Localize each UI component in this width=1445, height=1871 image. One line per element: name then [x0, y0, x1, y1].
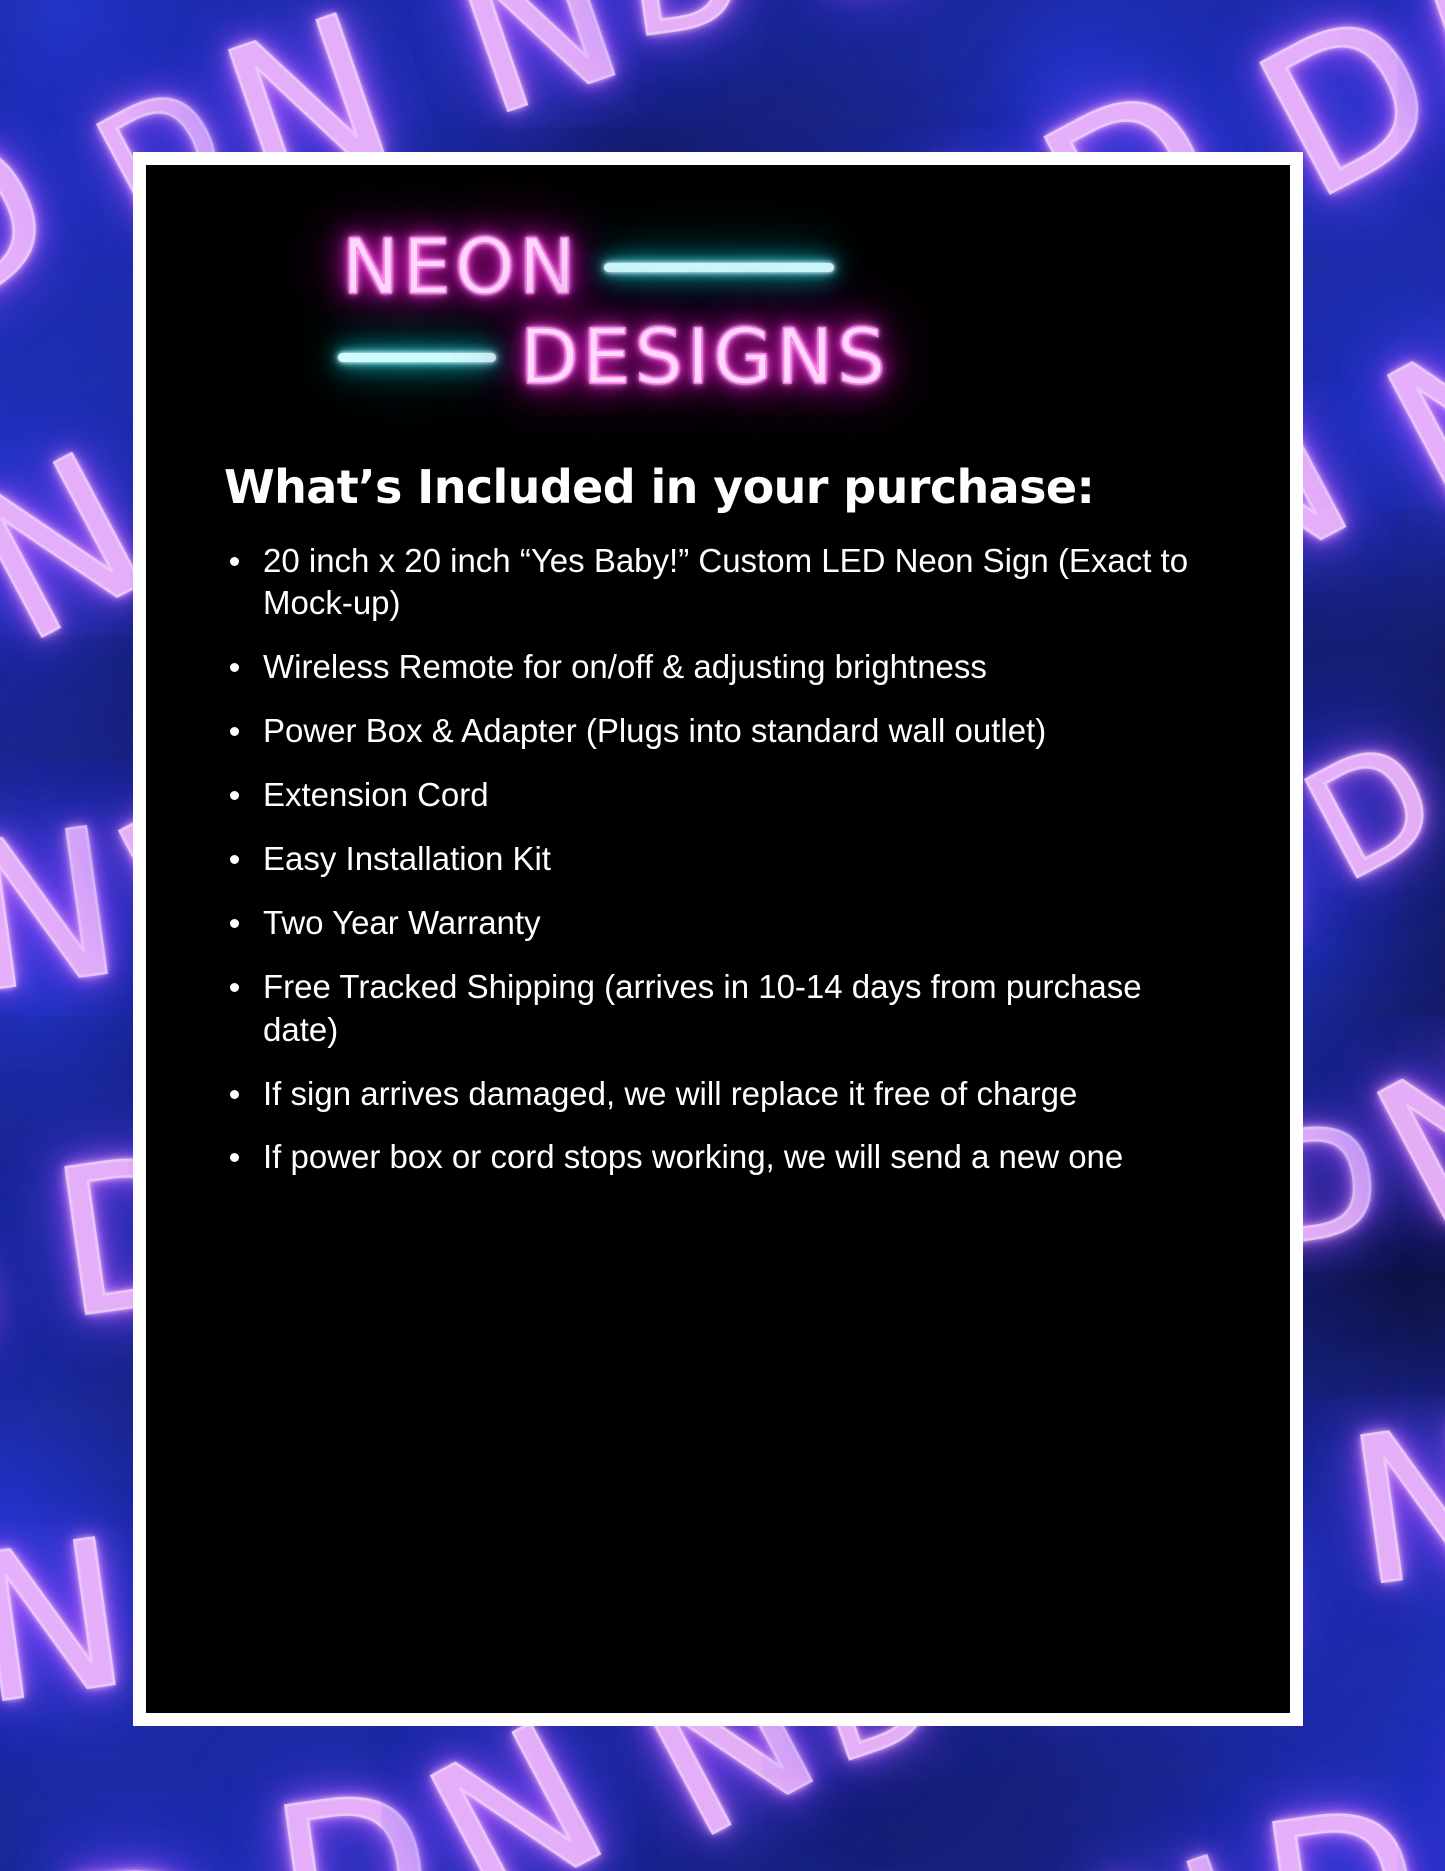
list-item-label: Easy Installation Kit — [263, 840, 551, 877]
logo-line-1: NEON — [342, 229, 834, 305]
background-letter-glyph: D — [789, 0, 972, 21]
background-letter-glyph: D — [615, 0, 751, 60]
page-title: What’s Included in your purchase: — [146, 462, 1290, 514]
list-item: Two Year Warranty — [224, 902, 1220, 945]
list-item-label: Extension Cord — [263, 776, 489, 813]
bullet-dot-icon — [230, 1153, 239, 1162]
logo-line-2: DESIGNS — [338, 319, 889, 395]
included-items-list: 20 inch x 20 inch “Yes Baby!” Custom LED… — [146, 540, 1290, 1180]
bullet-dot-icon — [230, 1090, 239, 1099]
poster-page: NDDNNDDNNDDNDNNDDNNDDNNDNDDNNDDNNDDNDNND… — [0, 0, 1445, 1871]
list-item-label: If sign arrives damaged, we will replace… — [263, 1075, 1077, 1112]
card-body: NEON DESIGNS What’s Included in your pur… — [146, 165, 1290, 1713]
background-letter-glyph: N — [1075, 1828, 1284, 1871]
list-item-label: Wireless Remote for on/off & adjusting b… — [263, 648, 987, 685]
bullet-dot-icon — [230, 663, 239, 672]
neon-bar-icon-left — [338, 353, 496, 362]
bullet-dot-icon — [230, 855, 239, 864]
bullet-dot-icon — [230, 983, 239, 992]
card-white-frame: NEON DESIGNS What’s Included in your pur… — [133, 152, 1303, 1726]
list-item: Easy Installation Kit — [224, 838, 1220, 881]
list-item: If sign arrives damaged, we will replace… — [224, 1073, 1220, 1116]
bullet-dot-icon — [230, 919, 239, 928]
bullet-dot-icon — [230, 791, 239, 800]
list-item: Wireless Remote for on/off & adjusting b… — [224, 646, 1220, 689]
background-letter-glyph: D — [1284, 717, 1445, 905]
list-item: 20 inch x 20 inch “Yes Baby!” Custom LED… — [224, 540, 1220, 626]
background-letter-glyph: D — [0, 1222, 6, 1388]
brand-logo: NEON DESIGNS — [146, 217, 1290, 462]
background-letter-glyph: N — [434, 0, 643, 148]
list-item: Extension Cord — [224, 774, 1220, 817]
logo-word-designs: DESIGNS — [520, 319, 889, 395]
list-item-label: Free Tracked Shipping (arrives in 10-14 … — [263, 968, 1142, 1048]
neon-bar-icon-right — [604, 263, 834, 272]
list-item-label: Two Year Warranty — [263, 904, 541, 941]
bullet-dot-icon — [230, 727, 239, 736]
background-letter-glyph: N — [0, 1513, 139, 1735]
logo-word-neon: NEON — [342, 229, 580, 305]
list-item-label: 20 inch x 20 inch “Yes Baby!” Custom LED… — [263, 542, 1188, 622]
list-item: Power Box & Adapter (Plugs into standard… — [224, 710, 1220, 753]
list-item: If power box or cord stops working, we w… — [224, 1136, 1220, 1179]
list-item: Free Tracked Shipping (arrives in 10-14 … — [224, 966, 1220, 1052]
list-item-label: If power box or cord stops working, we w… — [263, 1138, 1123, 1175]
bullet-dot-icon — [230, 557, 239, 566]
background-letter-glyph: D — [1251, 1781, 1434, 1871]
background-letter-glyph: N — [1339, 1395, 1445, 1617]
list-item-label: Power Box & Adapter (Plugs into standard… — [263, 712, 1046, 749]
background-letter-glyph: D — [48, 1838, 231, 1871]
